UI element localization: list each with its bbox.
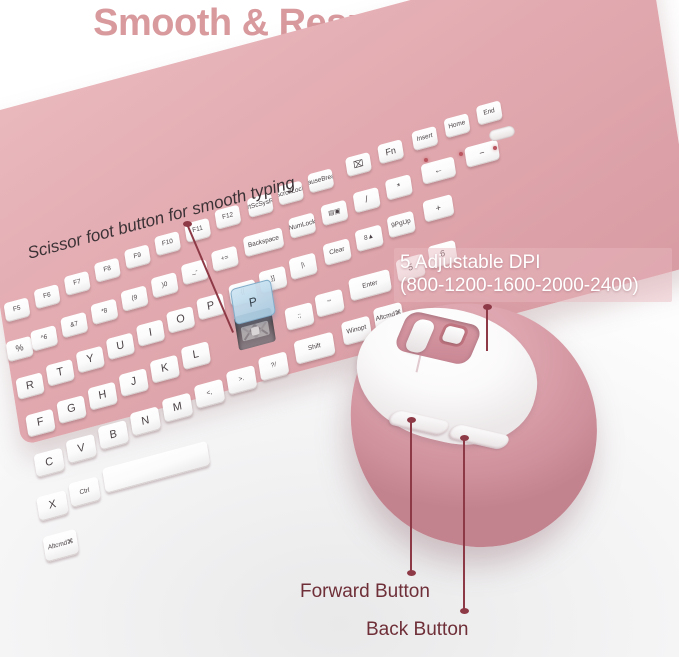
keyboard-key[interactable]: B <box>98 420 130 450</box>
keyboard-key[interactable]: F10 <box>154 231 181 256</box>
keyboard-key[interactable]: ^6 <box>30 325 58 352</box>
keyboard-key[interactable]: 8▲ <box>354 224 383 252</box>
key-label: ⌘ <box>67 539 74 547</box>
key-label: T <box>56 366 64 379</box>
key-label: F6 <box>43 292 51 301</box>
key-label: Fn <box>385 146 397 158</box>
keyboard-key[interactable]: X <box>36 490 69 522</box>
key-label: R <box>25 379 34 392</box>
callout-dpi-line2: (800-1200-1600-2000-2400) <box>400 274 666 297</box>
key-label: F <box>36 417 44 430</box>
keyboard-key[interactable]: F6 <box>34 284 61 309</box>
keyboard-key[interactable]: End <box>476 100 503 125</box>
key-label: cmd <box>55 540 68 550</box>
key-label: Enter <box>362 280 378 291</box>
keyboard-key[interactable]: <, <box>194 379 226 409</box>
keyboard-key[interactable]: F5 <box>3 297 30 322</box>
keyboard-key[interactable]: Enter <box>348 269 392 302</box>
key-label: V <box>77 442 86 455</box>
keyboard-key[interactable]: *8 <box>90 299 118 326</box>
keyboard-key[interactable]: Clear <box>322 238 351 266</box>
indicator-led-2 <box>459 152 463 156</box>
callout-back-label: Back Button <box>366 619 468 641</box>
key-label: P <box>206 300 215 313</box>
key-label: F9 <box>133 253 141 262</box>
keyboard-key[interactable]: F <box>25 409 56 438</box>
key-label: = <box>224 254 229 262</box>
key-label: L <box>192 349 200 362</box>
keyboard-key[interactable]: _- <box>181 259 209 286</box>
key-label: Shift <box>308 343 322 353</box>
key-label: / <box>365 195 369 205</box>
keyboard-key[interactable]: Backspace <box>243 227 285 257</box>
key-label: Home <box>448 120 466 131</box>
keyboard-key[interactable]: Y <box>76 346 105 374</box>
key-label: I <box>148 327 153 339</box>
keyboard-key[interactable]: Home <box>443 113 470 138</box>
key-label: − <box>479 148 486 159</box>
keyboard-key[interactable]: ?/ <box>258 351 290 381</box>
keyboard-key[interactable]: )0 <box>151 272 179 299</box>
key-label: ▣ <box>334 208 341 216</box>
key-label: Lock <box>302 219 316 229</box>
key-label: End <box>483 108 495 118</box>
keyboard-key[interactable]: &7 <box>60 312 88 339</box>
key-label: Ctrl <box>79 487 90 496</box>
callout-dpi: 5 Adjustable DPI (800-1200-1600-2000-240… <box>394 248 672 302</box>
keyboard-key[interactable]: N <box>130 406 162 436</box>
keyboard-key[interactable]: PauseBreak <box>307 168 334 193</box>
key-label: F12 <box>222 212 234 222</box>
keyboard-key[interactable]: H <box>87 382 118 411</box>
key-label: Pause <box>307 177 322 188</box>
keyboard-key[interactable]: − <box>464 139 500 168</box>
keyboard-key[interactable]: Altcmd⌘ <box>42 529 79 563</box>
key-label: F11 <box>192 226 203 235</box>
key-label: F7 <box>73 279 81 288</box>
keyboard-key[interactable]: V <box>66 434 98 464</box>
keyboard-key[interactable]: C <box>33 448 65 478</box>
keyboard-key[interactable]: F8 <box>94 257 121 282</box>
key-label: F5 <box>13 306 21 315</box>
key-label: O <box>176 313 186 327</box>
key-label: ' <box>330 299 332 306</box>
keyboard-key[interactable]: R <box>15 372 44 400</box>
keyboard-key[interactable]: O <box>166 306 195 334</box>
keyboard-key[interactable]: J <box>118 368 149 397</box>
callout-back-dot-bottom <box>460 608 469 614</box>
key-label: , <box>210 390 213 397</box>
indicator-led-3 <box>493 146 497 150</box>
keyboard-key[interactable]: 9PgUp <box>387 211 416 239</box>
keyboard-key[interactable]: "' <box>314 289 345 318</box>
keyboard-key[interactable]: F7 <box>64 271 91 296</box>
keyboard-key[interactable]: M <box>162 392 194 422</box>
key-label: N <box>141 415 150 428</box>
key-label: 6 <box>43 334 48 342</box>
callout-forward-label: Forward Button <box>300 581 430 603</box>
callout-forward-leader <box>410 420 412 572</box>
keyboard-key[interactable]: Shift <box>293 332 335 365</box>
keyboard-key[interactable]: ▤▣ <box>320 200 348 227</box>
key-label: F8 <box>103 266 111 275</box>
key-label: PgUp <box>395 219 412 230</box>
key-label: Backspace <box>248 235 280 250</box>
key-label: ← <box>433 165 443 177</box>
key-label: K <box>160 362 169 375</box>
keyboard-key[interactable]: >. <box>226 365 258 395</box>
key-label: C <box>45 456 54 469</box>
key-label: + <box>435 203 442 214</box>
key-label: 9 <box>133 294 138 302</box>
callout-back-leader <box>463 438 465 610</box>
keyboard-key[interactable]: |\ <box>288 252 317 280</box>
keyboard-key[interactable]: K <box>150 355 181 384</box>
keyboard-key[interactable]: Fn <box>377 139 404 164</box>
callout-forward-dot-bottom <box>407 570 416 576</box>
key-label: ; <box>299 313 302 320</box>
keyboard-key[interactable]: :; <box>284 302 315 331</box>
key-label: G <box>67 403 77 417</box>
keyboard-key[interactable]: + <box>422 194 454 223</box>
keyboard-key[interactable]: (9 <box>120 285 148 312</box>
key-label: Break <box>321 173 334 184</box>
key-label: Clear <box>329 247 345 258</box>
key-label: . <box>242 376 245 383</box>
product-infographic: Smooth & Responsive Keys 99% Noiseless B… <box>0 0 679 657</box>
key-label: / <box>274 362 277 369</box>
keyboard-key[interactable]: I <box>136 319 165 347</box>
keyboard-key[interactable]: Insert <box>411 126 438 151</box>
callout-dpi-line1: 5 Adjustable DPI <box>400 251 666 274</box>
keyboard-key[interactable]: * <box>385 174 413 201</box>
key-label: Y <box>86 353 95 366</box>
key-label: Num <box>288 222 302 232</box>
keyboard-key[interactable]: ⌧ <box>345 152 372 177</box>
keyboard-key[interactable]: NumLock <box>288 212 316 239</box>
keyboard-key[interactable]: L <box>181 341 212 370</box>
keyboard-key[interactable]: F9 <box>124 244 151 269</box>
key-label: ▲ <box>367 234 374 242</box>
key-label: \ <box>303 263 306 270</box>
key-label: ] <box>273 276 276 283</box>
indicator-led-1 <box>424 158 428 162</box>
key-label: - <box>195 268 198 275</box>
key-label: H <box>98 389 107 402</box>
key-label: 7 <box>74 321 79 329</box>
key-label: 0 <box>163 281 168 289</box>
key-label: U <box>116 340 125 353</box>
key-label: M <box>172 401 183 415</box>
mouse <box>348 305 598 555</box>
key-label: ⌧ <box>353 159 364 171</box>
keyboard-key[interactable]: Ctrl <box>68 476 101 508</box>
keyboard-key[interactable]: U <box>106 332 135 360</box>
callout-dpi-leader <box>486 307 488 351</box>
keyboard-key[interactable] <box>102 441 210 494</box>
key-label: J <box>130 376 137 389</box>
key-label: B <box>109 429 118 442</box>
key-label: 8 <box>103 308 108 316</box>
key-label: X <box>48 499 57 512</box>
keyboard-key[interactable]: T <box>46 359 75 387</box>
key-label: Insert <box>416 133 433 144</box>
keyboard-key[interactable]: G <box>56 395 87 424</box>
keyboard-key[interactable]: % <box>6 336 34 363</box>
keyboard-key[interactable]: += <box>211 246 239 273</box>
key-label: % <box>15 343 24 354</box>
key-label: F10 <box>162 239 174 249</box>
key-label: * <box>396 182 401 192</box>
keyboard-key[interactable]: / <box>353 187 381 214</box>
